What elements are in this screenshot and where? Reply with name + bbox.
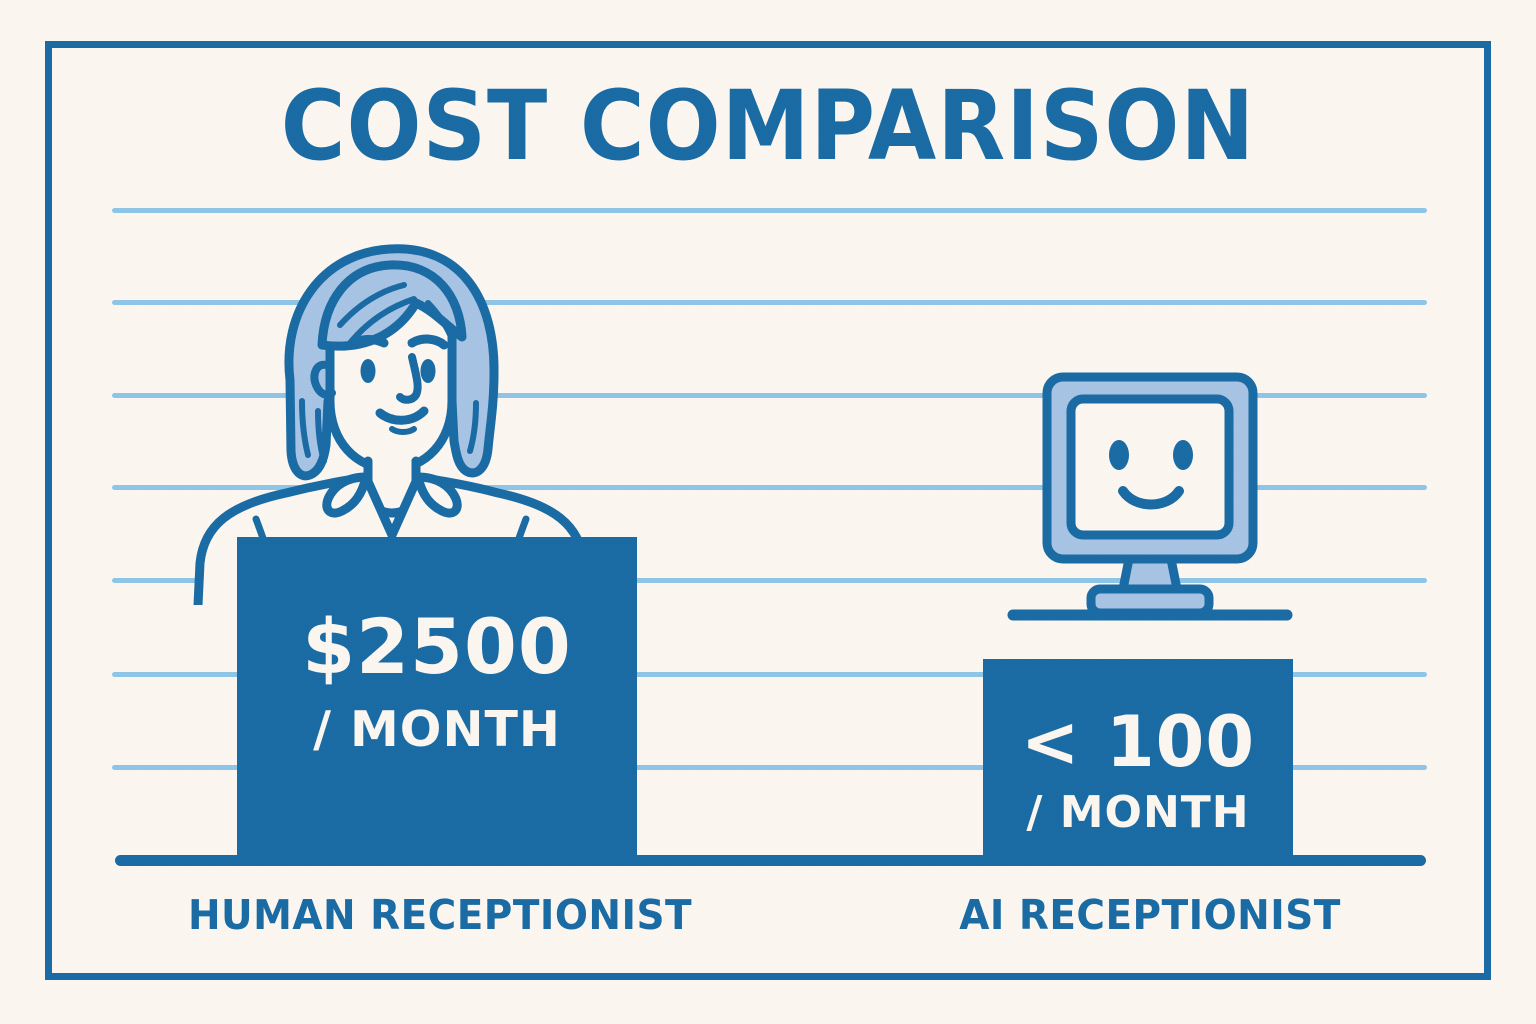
bar-ai-receptionist: < 100 / MONTH: [983, 659, 1293, 862]
axis-baseline: [115, 855, 1426, 866]
category-label-human: HUMAN RECEPTIONIST: [127, 895, 754, 936]
smiling-monitor-icon: [1005, 365, 1295, 630]
bar-value-human: $2500: [237, 609, 637, 685]
bar-human-receptionist: $2500 / MONTH: [237, 537, 637, 862]
bar-period-ai: / MONTH: [983, 791, 1293, 835]
bar-period-human: / MONTH: [237, 705, 637, 754]
infographic-canvas: COST COMPARISON: [0, 0, 1536, 1024]
bar-value-ai: < 100: [983, 707, 1293, 777]
page-title: COST COMPARISON: [61, 78, 1474, 174]
category-label-ai: AI RECEPTIONIST: [884, 895, 1416, 936]
